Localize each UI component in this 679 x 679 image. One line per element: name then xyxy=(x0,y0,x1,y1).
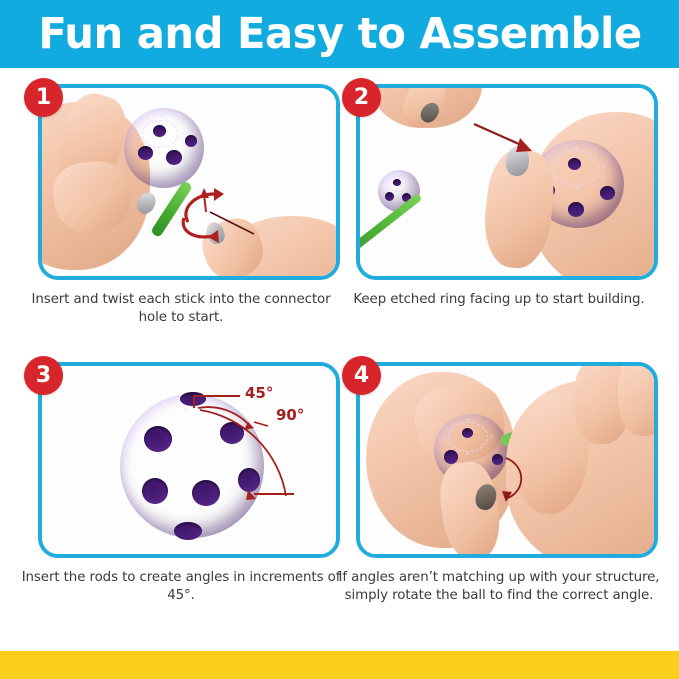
step-4-caption: If angles aren’t matching up with your s… xyxy=(338,569,660,605)
step-2-number-badge: 2 xyxy=(342,78,381,117)
ball-hole xyxy=(144,426,172,452)
direction-arrow-icon xyxy=(472,122,544,158)
etch-arrow-icon: › xyxy=(602,162,605,171)
step-2-photo-frame: 2 ⌄ xyxy=(356,84,658,280)
etch-arrow-icon: ‹ xyxy=(442,434,445,443)
step-3-photo-frame: 3 ⌃ xyxy=(38,362,340,558)
ball-hole xyxy=(174,522,202,540)
twist-arrow-icon xyxy=(170,176,280,256)
header-banner: Fun and Easy to Assemble xyxy=(0,0,679,68)
etch-arrow-icon: ⌃ xyxy=(464,452,472,461)
step-1-caption: Insert and twist each stick into the con… xyxy=(20,291,342,327)
step-card-3: 3 ⌃ xyxy=(20,362,342,605)
step-1-illustration: ‹ › ⌃ xyxy=(42,88,336,276)
step-1-number-badge: 1 xyxy=(24,78,63,117)
etch-arrow-icon: › xyxy=(176,133,179,142)
step-3-illustration: ⌃ 45° 90° xyxy=(42,366,336,554)
step-3-caption: Insert the rods to create angles in incr… xyxy=(20,569,342,605)
step-3-number-badge: 3 xyxy=(24,356,63,395)
steps-grid: 1 ‹ › ⌃ xyxy=(0,68,679,651)
ball-hole xyxy=(385,192,394,201)
ball-hole xyxy=(444,450,458,464)
etch-arrow-icon: ⌄ xyxy=(464,414,472,423)
step-card-2: 2 ⌄ xyxy=(338,84,660,309)
etch-arrow-icon: ⌃ xyxy=(157,114,165,123)
ball-hole xyxy=(142,478,168,504)
step-4-number-badge: 4 xyxy=(342,356,381,395)
angle-annotation xyxy=(182,382,336,522)
page-title: Fun and Easy to Assemble xyxy=(38,13,641,56)
step-card-1: 1 ‹ › ⌃ xyxy=(20,84,342,327)
rotate-arrow-icon xyxy=(496,454,536,508)
step-2-illustration: ⌄ ‹ › ⌃ xyxy=(360,88,654,276)
step-1-photo-frame: 1 ‹ › ⌃ xyxy=(38,84,340,280)
ball-hole xyxy=(166,150,182,165)
etch-arrow-icon: ‹ xyxy=(140,136,143,145)
etch-arrow-icon: › xyxy=(490,432,493,441)
footer-band xyxy=(0,651,679,679)
etch-arrow-icon: ⌄ xyxy=(572,142,580,151)
ball-hole xyxy=(153,125,166,137)
angle-label-90: 90° xyxy=(276,406,304,424)
step-4-illustration: ⌄ ‹ › ⌃ xyxy=(360,366,654,554)
step-card-4: 4 ⌄ ‹ › ⌃ xyxy=(338,362,660,605)
ball-hole xyxy=(185,135,197,147)
ball-hole xyxy=(462,428,473,438)
ball-hole xyxy=(393,179,401,186)
ball-hole xyxy=(568,158,581,170)
step-4-photo-frame: 4 ⌄ ‹ › ⌃ xyxy=(356,362,658,558)
etch-arrow-icon: ⌃ xyxy=(574,186,582,195)
angle-label-45: 45° xyxy=(245,384,273,402)
step-2-caption: Keep etched ring facing up to start buil… xyxy=(338,291,660,309)
ball-hole xyxy=(138,146,153,160)
ball-hole xyxy=(600,186,615,200)
ball-hole xyxy=(568,202,584,217)
